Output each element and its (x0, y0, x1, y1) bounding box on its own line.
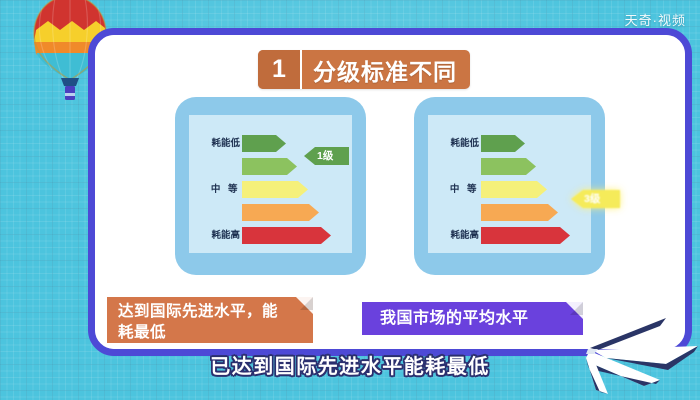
energy-label-card-left: 耗能低 中 等 (175, 97, 366, 275)
caption-purple-text: 我国市场的平均水平 (380, 302, 559, 335)
energy-bar-row (428, 204, 591, 221)
energy-bar-row: 中 等 (428, 181, 591, 198)
section-title-banner: 1 分级标准不同 (258, 50, 470, 89)
energy-arrow-grade-1 (242, 135, 286, 152)
energy-arrow-grade-3 (242, 181, 308, 198)
energy-bar-row (189, 204, 352, 221)
energy-bar-row: 耗能高 (428, 227, 591, 244)
video-frame: 1 分级标准不同 耗能低 (0, 0, 700, 400)
energy-bar-row: 耗能高 (189, 227, 352, 244)
grade-badge-level-1: 1级 (304, 147, 349, 165)
energy-arrow-grade-2 (242, 158, 297, 175)
energy-arrow-grade-3 (481, 181, 547, 198)
subtitle-caption: 已达到国际先进水平能耗最低 (0, 350, 700, 379)
grade-badge-label: 1级 (304, 151, 333, 162)
energy-label-low: 耗能低 (432, 139, 479, 149)
energy-label-panels: 耗能低 中 等 (95, 97, 685, 275)
energy-bar-chart-right: 耗能低 中 等 (428, 115, 591, 253)
energy-label-high: 耗能高 (432, 231, 479, 241)
energy-arrow-grade-1 (481, 135, 525, 152)
energy-arrow-grade-4 (242, 204, 319, 221)
page-title: 分级标准不同 (302, 50, 470, 89)
watermark: 天奇·视频 (625, 10, 686, 29)
energy-label-mid: 中 等 (432, 185, 479, 195)
caption-orange-text: 达到国际先进水平，能耗最低 (118, 301, 291, 343)
energy-label-mid: 中 等 (193, 185, 240, 195)
caption-chip-orange: 达到国际先进水平，能耗最低 (107, 297, 313, 343)
energy-bar-chart-left: 耗能低 中 等 (189, 115, 352, 253)
energy-label-card-right: 耗能低 中 等 (414, 97, 605, 275)
energy-label-low: 耗能低 (193, 139, 240, 149)
energy-bar-row: 中 等 (189, 181, 352, 198)
energy-label-high: 耗能高 (193, 231, 240, 241)
energy-arrow-grade-5 (481, 227, 570, 244)
energy-arrow-grade-4 (481, 204, 558, 221)
grade-badge-label: 3级 (571, 194, 600, 205)
energy-arrow-grade-5 (242, 227, 331, 244)
grade-badge-level-3: 3级 (571, 190, 620, 208)
caption-chip-purple: 我国市场的平均水平 (362, 302, 583, 335)
folded-corner-shadow-icon (570, 302, 583, 315)
section-number: 1 (258, 50, 302, 89)
energy-bar-row: 耗能低 (428, 135, 591, 152)
energy-arrow-grade-2 (481, 158, 536, 175)
folded-corner-shadow-icon (300, 297, 313, 310)
energy-bar-row (428, 158, 591, 175)
